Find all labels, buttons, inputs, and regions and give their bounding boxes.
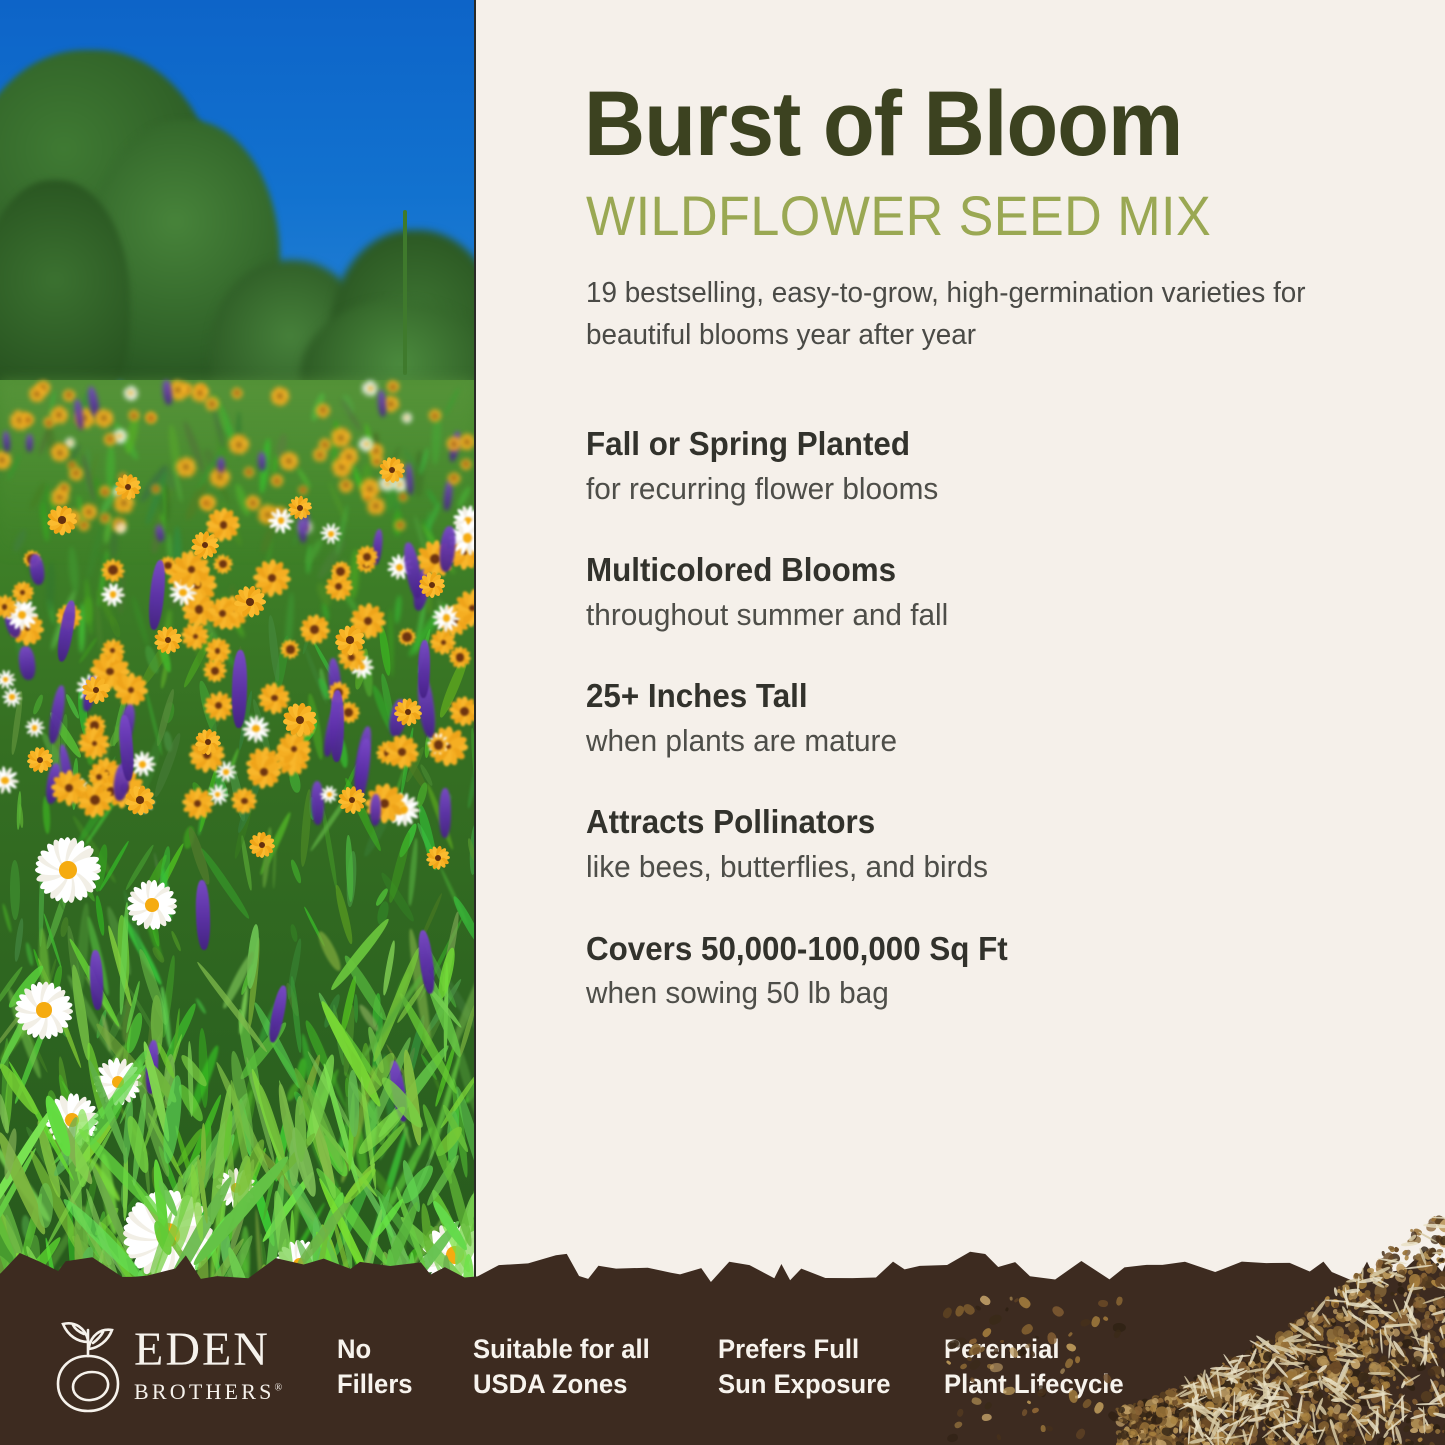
shasta-daisy-flower [361, 380, 379, 398]
black-eyed-susan-flower [449, 646, 471, 668]
black-eyed-susan-flower [448, 696, 476, 728]
black-eyed-susan-flower [181, 786, 215, 820]
tall-orange-flower [378, 178, 434, 220]
badge-sun-exposure: Prefers Full Sun Exposure [718, 1332, 890, 1401]
feature-title: Multicolored Blooms [586, 551, 1337, 589]
seed [1142, 1417, 1145, 1420]
black-eyed-susan-flower [418, 571, 446, 599]
black-eyed-susan-flower [337, 785, 367, 815]
purple-larkspur-spike [439, 788, 451, 838]
black-eyed-susan-flower [233, 585, 267, 619]
feature-subtitle: for recurring flower blooms [586, 470, 1344, 507]
black-eyed-susan-flower [79, 503, 98, 522]
grass-blade [74, 1109, 89, 1187]
black-eyed-susan-flower [337, 477, 353, 493]
seed [1388, 1408, 1391, 1411]
shasta-daisy-flower [320, 785, 339, 804]
black-eyed-susan-flower [81, 675, 111, 705]
black-eyed-susan-flower [397, 628, 415, 646]
black-eyed-susan-flower [144, 411, 157, 424]
black-eyed-susan-flower [203, 690, 234, 721]
seed [1247, 1350, 1250, 1353]
shasta-daisy-flower [122, 385, 139, 402]
black-eyed-susan-flower [27, 384, 47, 404]
shasta-daisy-flower [130, 751, 156, 777]
black-eyed-susan-flower [248, 831, 276, 859]
black-eyed-susan-flower [384, 734, 420, 770]
eden-brothers-logo[interactable]: EDEN BROTHERS® [48, 1312, 283, 1420]
scattered-seed [996, 1434, 1001, 1440]
feature-item: Fall or Spring Plantedfor recurring flow… [586, 425, 1376, 507]
black-eyed-susan-flower [330, 561, 352, 583]
badge-line1: No [337, 1332, 413, 1367]
shasta-daisy-flower [0, 766, 19, 795]
seed [1409, 1274, 1420, 1287]
seed-awn [1264, 1396, 1289, 1400]
badge-no-fillers: No Fillers [337, 1332, 413, 1401]
black-eyed-susan-flower [287, 495, 313, 521]
black-eyed-susan-flower [314, 402, 330, 418]
seed [1393, 1376, 1396, 1381]
black-eyed-susan-flower [386, 380, 400, 394]
black-eyed-susan-flower [355, 545, 379, 569]
shasta-daisy-flower [0, 670, 16, 690]
black-eyed-susan-flower [429, 735, 449, 755]
feature-subtitle: like bees, butterflies, and birds [586, 848, 1344, 885]
black-eyed-susan-flower [428, 409, 442, 423]
black-eyed-susan-flower [282, 702, 318, 738]
black-eyed-susan-flower [231, 387, 243, 399]
logo-eden-text: EDEN [134, 1326, 282, 1374]
badge-line2: Plant Lifecycle [944, 1367, 1124, 1402]
black-eyed-susan-flower [66, 460, 77, 471]
scattered-seed [1098, 1299, 1109, 1307]
black-eyed-susan-flower [378, 456, 406, 484]
shasta-daisy-flower [14, 980, 74, 1040]
wildflower-meadow-photo [0, 0, 476, 1290]
product-description: 19 bestselling, easy-to-grow, high-germi… [586, 272, 1335, 357]
black-eyed-susan-flower [49, 769, 88, 808]
black-eyed-susan-flower [190, 530, 220, 560]
seed [1434, 1428, 1441, 1435]
black-eyed-susan-flower [42, 416, 55, 429]
seed [1438, 1339, 1445, 1350]
black-eyed-susan-flower [246, 754, 282, 790]
seed [1428, 1441, 1438, 1445]
black-eyed-susan-flower [425, 845, 451, 871]
black-eyed-susan-flower [99, 485, 111, 497]
logo-brothers-text: BROTHERS® [134, 1381, 282, 1403]
black-eyed-susan-flower [228, 434, 250, 456]
badge-usda-zones: Suitable for all USDA Zones [473, 1332, 650, 1401]
black-eyed-susan-flower [270, 473, 284, 487]
black-eyed-susan-flower [394, 519, 406, 531]
feature-subtitle: throughout summer and fall [586, 596, 1344, 633]
black-eyed-susan-flower [100, 512, 112, 524]
logo-wordmark: EDEN BROTHERS® [134, 1326, 282, 1403]
black-eyed-susan-flower [243, 467, 255, 479]
black-eyed-susan-flower [202, 659, 227, 684]
seed [1384, 1303, 1388, 1307]
shasta-daisy-flower [242, 714, 271, 743]
shasta-daisy-flower [401, 412, 413, 424]
seed [1404, 1255, 1409, 1261]
black-eyed-susan-flower [334, 624, 366, 656]
black-eyed-susan-flower [269, 386, 290, 407]
black-eyed-susan-flower [194, 728, 222, 756]
black-eyed-susan-flower [398, 491, 409, 502]
black-eyed-susan-flower [329, 426, 353, 450]
black-eyed-susan-flower [280, 639, 301, 660]
black-eyed-susan-flower [0, 449, 13, 471]
shasta-daisy-flower [358, 436, 375, 453]
product-subtitle: WILDFLOWER SEED MIX [586, 188, 1211, 244]
black-eyed-susan-flower [460, 457, 473, 470]
seed [1262, 1427, 1266, 1432]
black-eyed-susan-flower [127, 409, 140, 422]
black-eyed-susan-flower [77, 727, 111, 761]
black-eyed-susan-flower [94, 408, 116, 430]
black-eyed-susan-flower [366, 496, 387, 517]
content-panel: Burst of Bloom WILDFLOWER SEED MIX 19 be… [474, 0, 1445, 1290]
black-eyed-susan-flower [175, 456, 197, 478]
black-eyed-susan-flower [113, 672, 149, 708]
feature-list: Fall or Spring Plantedfor recurring flow… [586, 425, 1376, 1056]
seed [1441, 1352, 1445, 1361]
black-eyed-susan-flower [312, 447, 328, 463]
badge-line2: Fillers [337, 1367, 413, 1402]
shasta-daisy-flower [34, 836, 102, 904]
shasta-daisy-flower [101, 582, 125, 606]
black-eyed-susan-flower [299, 614, 331, 646]
badge-line1: Suitable for all [473, 1332, 650, 1367]
product-title: Burst of Bloom [584, 78, 1182, 170]
feature-title: Attracts Pollinators [586, 803, 1337, 841]
seedling-sprout-icon [48, 1316, 128, 1416]
feature-item: 25+ Inches Tallwhen plants are mature [586, 677, 1376, 759]
seed [1337, 1328, 1344, 1337]
product-infographic: Burst of Bloom WILDFLOWER SEED MIX 19 be… [0, 0, 1445, 1445]
seed [1434, 1374, 1440, 1380]
seed [1172, 1438, 1176, 1442]
black-eyed-susan-flower [231, 788, 258, 815]
badge-line2: Sun Exposure [718, 1367, 890, 1402]
black-eyed-susan-flower [446, 470, 462, 486]
seed [1269, 1418, 1272, 1421]
feature-subtitle: when sowing 50 lb bag [586, 974, 1344, 1011]
black-eyed-susan-flower [453, 588, 476, 627]
black-eyed-susan-flower [393, 697, 423, 727]
feature-title: Covers 50,000-100,000 Sq Ft [586, 930, 1337, 968]
shasta-daisy-flower [115, 522, 127, 534]
seed-awn [1368, 1372, 1390, 1375]
seed-awn [1440, 1368, 1445, 1377]
seed [1425, 1311, 1430, 1316]
feature-title: 25+ Inches Tall [586, 677, 1337, 715]
feature-subtitle: when plants are mature [586, 722, 1344, 759]
scattered-seed [1115, 1296, 1124, 1306]
black-eyed-susan-flower [46, 504, 78, 536]
tall-flower-stem [403, 210, 407, 375]
shasta-daisy-flower [320, 523, 342, 545]
black-eyed-susan-flower [181, 622, 210, 651]
feature-item: Attracts Pollinatorslike bees, butterfli… [586, 803, 1376, 885]
grass-blade [38, 1183, 53, 1228]
seed [1396, 1386, 1400, 1390]
badge-line1: Prefers Full [718, 1332, 890, 1367]
wildflower-seed-mix-pile [1115, 1145, 1445, 1445]
feature-item: Covers 50,000-100,000 Sq Ftwhen sowing 5… [586, 930, 1376, 1012]
black-eyed-susan-flower [26, 746, 54, 774]
black-eyed-susan-flower [153, 625, 183, 655]
black-eyed-susan-flower [124, 784, 156, 816]
black-eyed-susan-flower [278, 450, 299, 471]
black-eyed-susan-flower [57, 481, 72, 496]
seed [1394, 1293, 1398, 1297]
black-eyed-susan-flower [20, 412, 35, 427]
black-eyed-susan-flower [204, 396, 220, 412]
shasta-daisy-flower [24, 718, 45, 739]
grass-blade [200, 1123, 206, 1180]
scattered-seed [1009, 1296, 1013, 1301]
black-eyed-susan-flower [100, 638, 125, 663]
shasta-daisy-flower [126, 879, 178, 931]
black-eyed-susan-flower [100, 558, 125, 583]
feature-title: Fall or Spring Planted [586, 425, 1337, 463]
black-eyed-susan-flower [11, 581, 33, 603]
black-eyed-susan-flower [103, 433, 117, 447]
black-eyed-susan-flower [114, 473, 142, 501]
badge-line2: USDA Zones [473, 1367, 650, 1402]
black-eyed-susan-flower [150, 484, 160, 494]
feature-item: Multicolored Bloomsthroughout summer and… [586, 551, 1376, 633]
